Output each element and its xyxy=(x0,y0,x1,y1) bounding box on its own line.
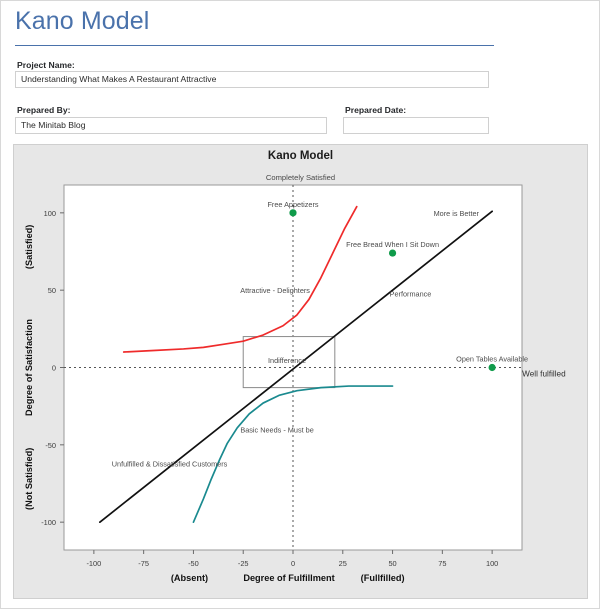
kano-model-page: Kano Model Project Name: Prepared By: Pr… xyxy=(0,0,600,609)
y-axis-label-top: (Satisfied) xyxy=(24,225,34,269)
annotation-indifference: Indifference xyxy=(268,356,306,365)
marker-label-free-bread-when-i-sit-down: Free Bread When I Sit Down xyxy=(346,240,439,249)
marker-label-open-tables-available: Open Tables Available xyxy=(456,355,528,364)
marker-point-free-bread-when-i-sit-down[interactable] xyxy=(389,249,396,256)
x-tick-label: 0 xyxy=(291,559,295,568)
y-tick-label: 100 xyxy=(44,209,56,218)
annotation-performance: Performance xyxy=(390,289,432,298)
x-tick-label: -50 xyxy=(188,559,199,568)
marker-point-free-appetizers[interactable] xyxy=(289,209,296,216)
x-axis-title: Degree of Fulfillment xyxy=(243,573,334,583)
prepared-by-input[interactable] xyxy=(15,117,327,134)
kano-chart: -100-75-50-250255075100100500-50-100Attr… xyxy=(14,145,587,598)
title-divider xyxy=(15,45,494,46)
prepared-by-label: Prepared By: xyxy=(17,105,71,115)
y-tick-label: 50 xyxy=(48,286,56,295)
page-title: Kano Model xyxy=(15,7,149,36)
annotation-unfulfilled-dissatisfied: Unfulfilled & Dissatisfied Customers xyxy=(112,459,228,468)
x-tick-label: 50 xyxy=(388,559,396,568)
annotation-more-is-better: More is Better xyxy=(434,209,480,218)
marker-point-open-tables-available[interactable] xyxy=(489,364,496,371)
y-tick-label: 0 xyxy=(52,364,56,373)
marker-label-free-appetizers: Free Appetizers xyxy=(267,200,318,209)
x-tick-label: -100 xyxy=(86,559,101,568)
project-name-label: Project Name: xyxy=(17,60,75,70)
prepared-date-input[interactable] xyxy=(343,117,489,134)
annotation-well-fulfilled: Well fulfilled xyxy=(522,370,566,379)
project-name-input[interactable] xyxy=(15,71,489,88)
annotation-basic-needs-must-be: Basic Needs - Must be xyxy=(240,425,313,434)
y-axis-title: Degree of Satisfaction xyxy=(24,319,34,416)
x-axis-label-left: (Absent) xyxy=(171,573,208,583)
prepared-date-label: Prepared Date: xyxy=(345,105,406,115)
x-tick-label: 75 xyxy=(438,559,446,568)
x-axis-label-right: (Fullfilled) xyxy=(361,573,405,583)
x-tick-label: -75 xyxy=(138,559,149,568)
annotation-attractive-delighters: Attractive - Delighters xyxy=(240,286,310,295)
x-tick-label: 100 xyxy=(486,559,498,568)
y-axis-label-bottom: (Not Satisfied) xyxy=(24,448,34,510)
x-tick-label: -25 xyxy=(238,559,249,568)
chart-panel: Kano Model Completely Satisfied -100-75-… xyxy=(13,144,588,599)
y-tick-label: -50 xyxy=(45,441,56,450)
y-tick-label: -100 xyxy=(41,518,56,527)
x-tick-label: 25 xyxy=(339,559,347,568)
